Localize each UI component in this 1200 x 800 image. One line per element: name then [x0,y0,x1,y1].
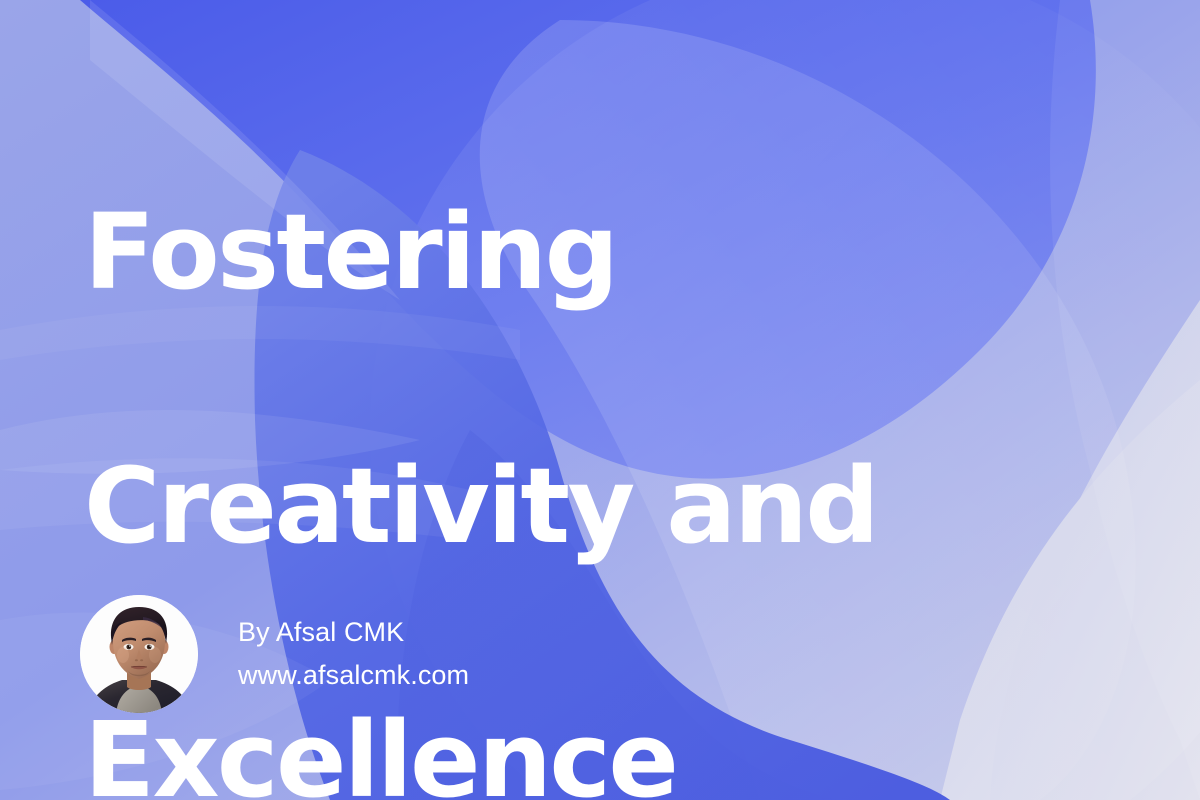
headline-line-2: Creativity and [84,443,1084,570]
cover-banner: Fostering Creativity and Excellence [0,0,1200,800]
headline-line-1: Fostering [84,189,1084,316]
author-website: www.afsalcmk.com [238,659,469,691]
byline: By Afsal CMK www.afsalcmk.com [80,595,469,713]
author-name: By Afsal CMK [238,616,469,648]
byline-text: By Afsal CMK www.afsalcmk.com [238,616,469,693]
avatar [80,595,198,713]
